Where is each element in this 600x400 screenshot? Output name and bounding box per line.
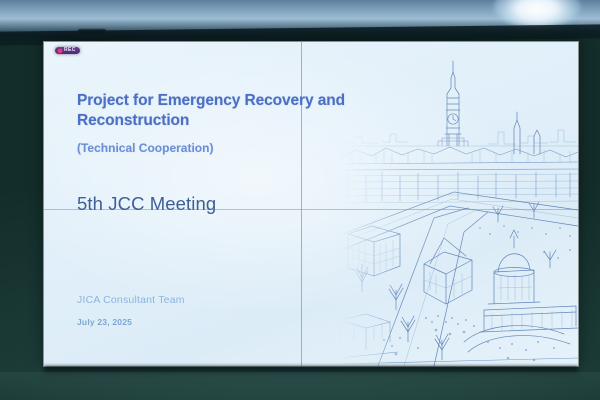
slide-heading: 5th JCC Meeting — [77, 193, 216, 215]
slide-title: Project for Emergency Recovery and Recon… — [68, 91, 348, 131]
conference-room-photo: REC Project for Emergency Recovery and R… — [0, 0, 600, 400]
slide-subtitle: (Technical Cooperation) — [77, 141, 357, 155]
aerial-cityscape-illustration — [338, 42, 578, 366]
projection-screen[interactable]: REC Project for Emergency Recovery and R… — [44, 42, 578, 366]
slide-text-block: Project for Emergency Recovery and Recon… — [44, 42, 334, 366]
slide-organization: JICA Consultant Team — [77, 294, 185, 306]
floor-reflection — [0, 372, 600, 400]
slide-date: July 23, 2025 — [77, 317, 132, 327]
